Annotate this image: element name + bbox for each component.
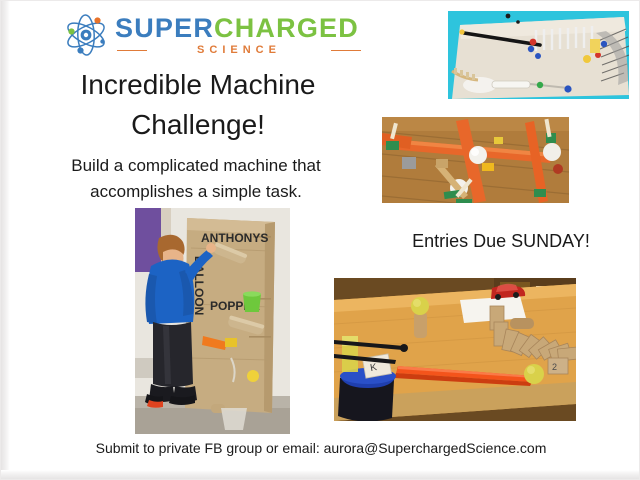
logo-subtitle-row: SCIENCE <box>115 43 363 59</box>
photo-orange-wooden-ramps <box>382 117 569 203</box>
slide-title: Incredible Machine Challenge! <box>23 65 373 145</box>
atom-icon <box>63 13 109 57</box>
presentation-slide: SUPERCHARGED SCIENCE Incredible Machine … <box>0 0 640 480</box>
slide-subtitle: Build a complicated machine that accompl… <box>31 153 361 205</box>
photo-domino-table-machine-art: 2 K <box>334 278 576 421</box>
entries-due-callout: Entries Due SUNDAY! <box>381 229 621 253</box>
logo-word-super: SUPER <box>115 13 214 43</box>
photo-orange-wooden-ramps-art <box>382 117 569 203</box>
logo-word-charged: CHARGED <box>214 13 359 43</box>
photo-domino-table-machine: 2 K <box>334 278 576 421</box>
photo-rube-goldberg-board-art <box>448 11 629 99</box>
supercharged-science-logo: SUPERCHARGED SCIENCE <box>63 10 363 60</box>
logo-wordmark: SUPERCHARGED <box>115 13 359 43</box>
svg-text:2: 2 <box>552 362 557 372</box>
photo-boy-balloon-popper: ANTHONYS BALLOON POPPER <box>135 208 290 434</box>
logo-subtitle: SCIENCE <box>115 43 363 57</box>
photo-boy-balloon-popper-art: ANTHONYS BALLOON POPPER <box>135 208 290 434</box>
photo-rube-goldberg-board <box>448 11 629 99</box>
submission-footer: Submit to private FB group or email: aur… <box>21 438 621 458</box>
svg-text:ANTHONYS: ANTHONYS <box>201 231 268 245</box>
